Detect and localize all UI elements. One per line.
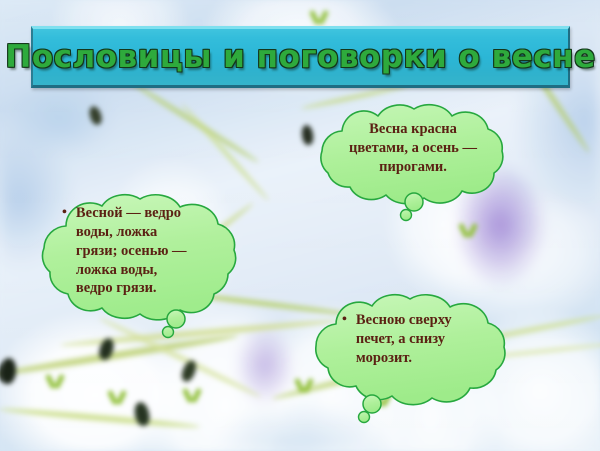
proverb-line: ведро грязи. bbox=[76, 279, 242, 298]
proverb-text-spring-autumn: Весна краснацветами, а осень —пирогами. bbox=[328, 120, 498, 177]
proverb-text-bake-freeze: •Весною сверхупечет, а снизуморозит. bbox=[342, 311, 512, 368]
proverb-lines: Весною сверхупечет, а снизуморозит. bbox=[356, 311, 512, 368]
bullet-icon: • bbox=[342, 311, 347, 329]
proverb-bullet-row: •Весной — ведроводы, ложкагрязи; осенью … bbox=[62, 204, 242, 298]
slide-canvas: Пословицы и поговорки о весне Весна крас… bbox=[0, 0, 600, 451]
page-title: Пословицы и поговорки о весне bbox=[5, 42, 595, 73]
proverb-line: Весна красна bbox=[328, 120, 498, 139]
proverb-lines: Весна краснацветами, а осень —пирогами. bbox=[328, 120, 498, 177]
proverb-text-water-mud: •Весной — ведроводы, ложкагрязи; осенью … bbox=[62, 204, 242, 298]
proverb-line: цветами, а осень — bbox=[328, 139, 498, 158]
proverb-line: Весной — ведро bbox=[76, 204, 242, 223]
thought-cloud-bake-freeze: •Весною сверхупечет, а снизуморозит. bbox=[300, 292, 533, 400]
bullet-icon: • bbox=[62, 204, 67, 222]
proverb-line: грязи; осенью — bbox=[76, 242, 242, 261]
proverb-bullet-row: •Весною сверхупечет, а снизуморозит. bbox=[342, 311, 512, 368]
thought-cloud-spring-autumn: Весна краснацветами, а осень —пирогами. bbox=[302, 103, 524, 201]
proverb-line: воды, ложка bbox=[76, 223, 242, 242]
proverb-lines: Весной — ведроводы, ложкагрязи; осенью —… bbox=[76, 204, 242, 298]
proverb-line: печет, а снизу bbox=[356, 330, 512, 349]
proverb-line: морозит. bbox=[356, 349, 512, 368]
proverb-line: Весною сверху bbox=[356, 311, 512, 330]
thought-cloud-water-mud: •Весной — ведроводы, ложкагрязи; осенью … bbox=[28, 190, 266, 314]
title-banner: Пословицы и поговорки о весне bbox=[31, 26, 570, 88]
proverb-line: ложка воды, bbox=[76, 261, 242, 280]
proverb-line: пирогами. bbox=[328, 158, 498, 177]
